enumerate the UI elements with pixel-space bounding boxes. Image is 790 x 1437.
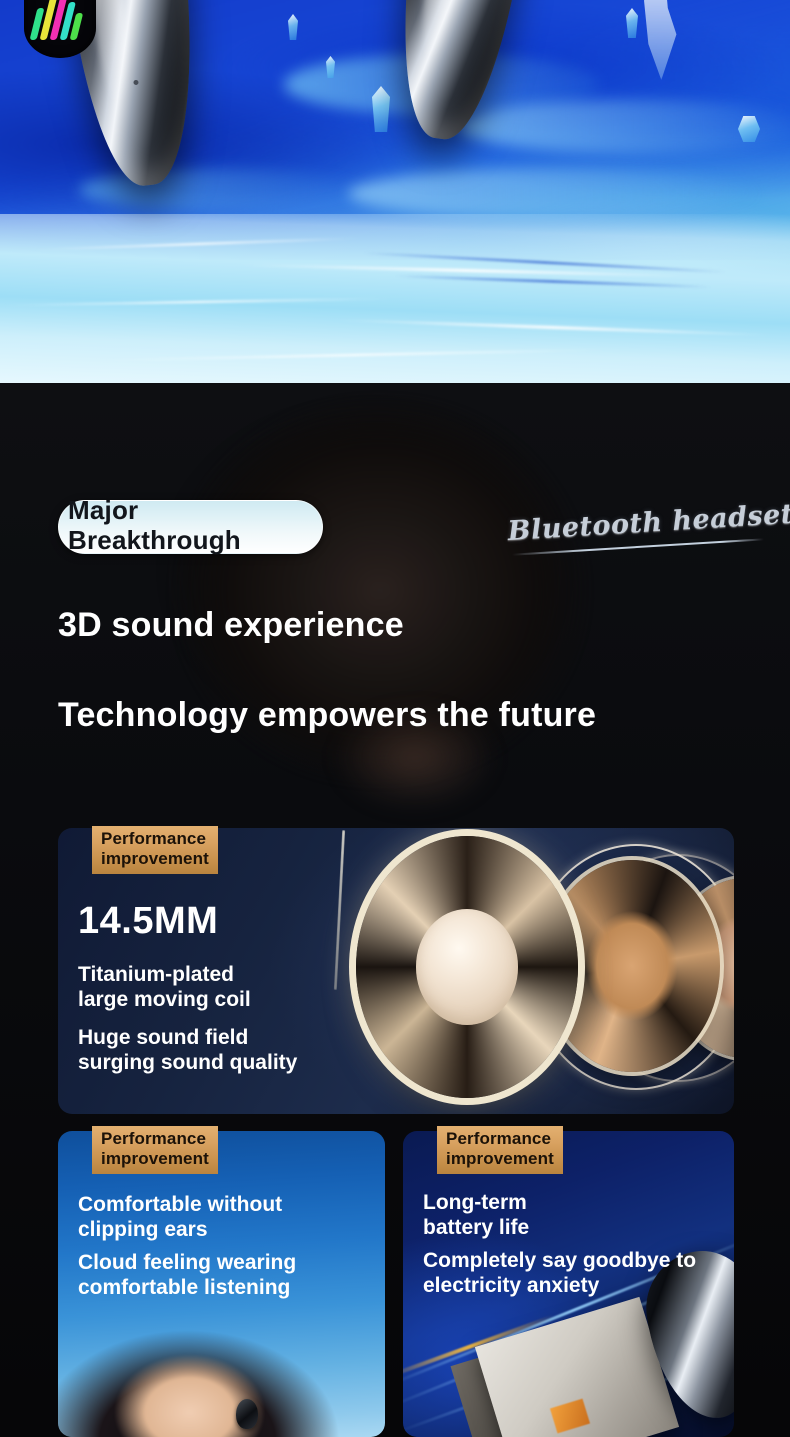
badge-line-1: Major [68, 495, 408, 525]
driver-layer-front [356, 836, 578, 1098]
badge-performance-improvement: Performance improvement [437, 1126, 563, 1174]
driver-title-line-1: Titanium-plated [78, 962, 251, 987]
heading-technology-future: Technology empowers the future [58, 696, 596, 735]
comfort-title: Comfortable without clipping ears [78, 1192, 378, 1242]
badge-performance-improvement: Performance improvement [92, 1126, 218, 1174]
comfort-desc-line-1: Cloud feeling wearing [78, 1250, 378, 1275]
led-equalizer-bars [30, 0, 93, 40]
hero-fold-highlight [348, 169, 759, 219]
battery-title-line-2: battery life [423, 1215, 723, 1240]
comfort-title-line-1: Comfortable without [78, 1192, 378, 1217]
battery-desc-line-1: Completely say goodbye to [423, 1248, 728, 1273]
cable-illustration [334, 830, 345, 990]
badge-line-1: Performance [101, 1129, 209, 1149]
comfort-description: Cloud feeling wearing comfortable listen… [78, 1250, 378, 1300]
badge-line-1: Performance [446, 1129, 554, 1149]
comfort-desc-line-2: comfortable listening [78, 1275, 378, 1300]
badge-performance-improvement: Performance improvement [92, 826, 218, 874]
comfort-title-line-2: clipping ears [78, 1217, 378, 1242]
badge-line-2: improvement [446, 1149, 554, 1169]
badge-line-2: improvement [101, 849, 209, 869]
driver-title: Titanium-plated large moving coil [78, 962, 251, 1012]
driver-desc-line-1: Huge sound field [78, 1025, 297, 1050]
driver-diaphragm-hub [416, 909, 518, 1024]
major-breakthrough-label: Major Breakthrough [68, 495, 408, 555]
led-battery-display: 88 [24, 0, 96, 58]
hero-water-surface [0, 214, 790, 383]
microphone-hole-icon [134, 80, 139, 85]
battery-desc-line-2: electricity anxiety [423, 1273, 728, 1298]
model-face [104, 1315, 290, 1437]
driver-title-line-2: large moving coil [78, 987, 251, 1012]
driver-size-value: 14.5MM [78, 900, 218, 943]
badge-line-1: Performance [101, 829, 209, 849]
badge-line-2: improvement [101, 1149, 209, 1169]
earbud-specular-highlight [415, 0, 468, 58]
hero-fold-highlight [79, 169, 363, 211]
driver-desc-line-2: surging sound quality [78, 1050, 297, 1075]
worn-earbud [236, 1399, 258, 1429]
driver-description: Huge sound field surging sound quality [78, 1025, 297, 1075]
battery-title-line-1: Long-term [423, 1190, 723, 1215]
hero-banner: 88 [0, 0, 790, 383]
badge-line-2: Breakthrough [68, 525, 408, 555]
product-detail-page: 88 Major Breakthrough Bluetooth headset … [0, 0, 790, 1437]
battery-description: Completely say goodbye to electricity an… [423, 1248, 728, 1298]
battery-title: Long-term battery life [423, 1190, 723, 1240]
heading-3d-sound: 3D sound experience [58, 606, 404, 645]
